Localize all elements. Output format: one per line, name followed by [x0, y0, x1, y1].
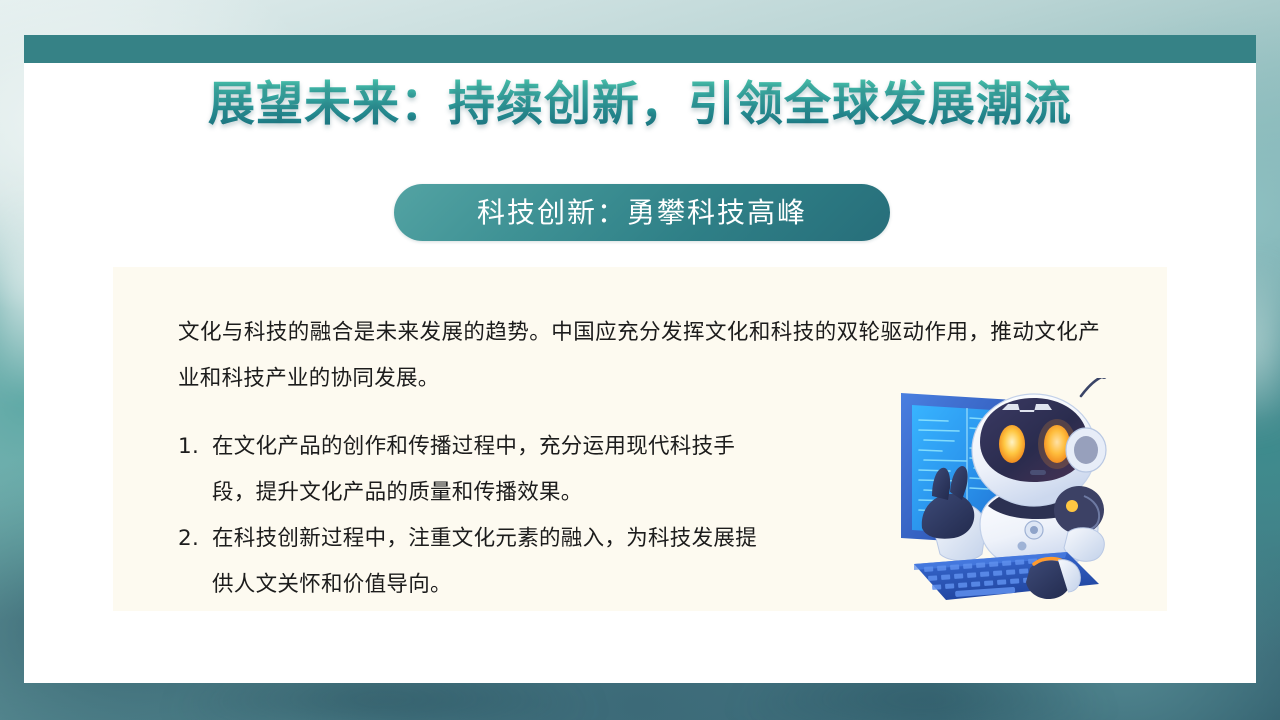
list-item-number: 2. [178, 516, 212, 562]
slide-title: 展望未来：持续创新，引领全球发展潮流 [0, 78, 1280, 132]
list-item-text: 在文化产品的创作和传播过程中，充分运用现代科技手段，提升文化产品的质量和传播效果… [212, 424, 778, 516]
list-item: 1. 在文化产品的创作和传播过程中，充分运用现代科技手段，提升文化产品的质量和传… [178, 424, 778, 516]
subtitle-pill: 科技创新：勇攀科技高峰 [394, 184, 890, 241]
slide-root: 展望未来：持续创新，引领全球发展潮流 科技创新：勇攀科技高峰 文化与科技的融合是… [0, 0, 1280, 720]
robot-typing-hand [1026, 559, 1080, 599]
robot-computer-illustration [862, 378, 1162, 628]
numbered-list: 1. 在文化产品的创作和传播过程中，充分运用现代科技手段，提升文化产品的质量和传… [178, 424, 778, 608]
list-item-number: 1. [178, 424, 212, 470]
list-item-text: 在科技创新过程中，注重文化元素的融入，为科技发展提供人文关怀和价值导向。 [212, 516, 778, 608]
robot-head [972, 378, 1107, 506]
subtitle-pill-label: 科技创新：勇攀科技高峰 [477, 199, 807, 227]
card-top-accent-bar [24, 35, 1256, 63]
list-item: 2. 在科技创新过程中，注重文化元素的融入，为科技发展提供人文关怀和价值导向。 [178, 516, 778, 608]
